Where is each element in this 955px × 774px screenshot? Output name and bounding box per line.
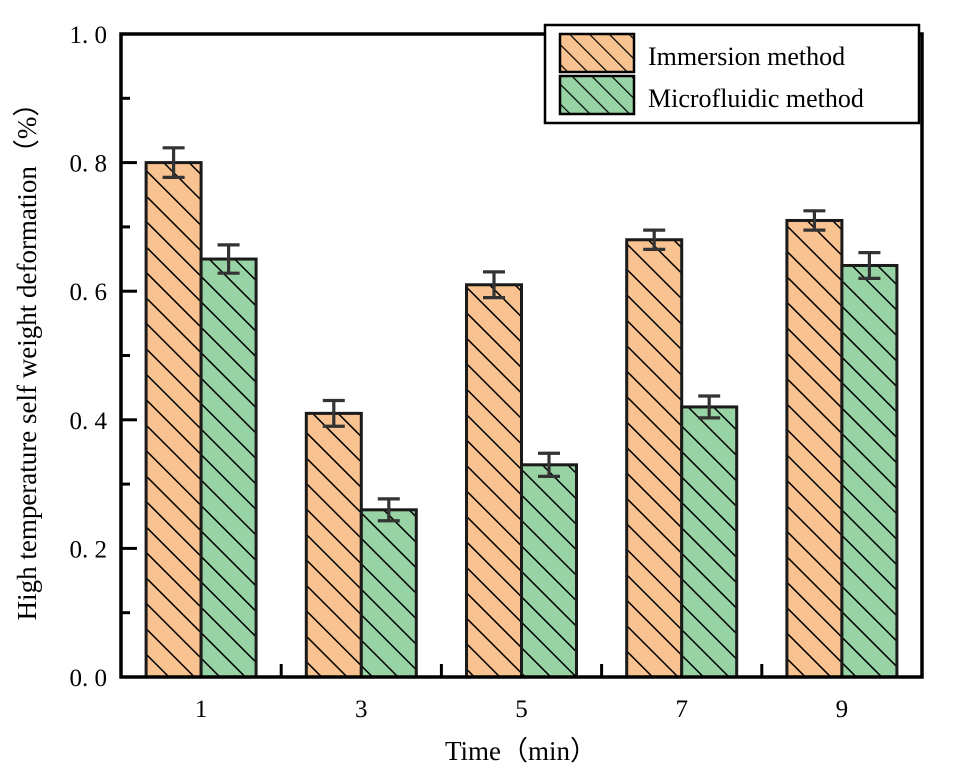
bar-immersion-method-7[interactable] bbox=[627, 240, 682, 677]
bar-immersion-method-5[interactable] bbox=[467, 285, 522, 677]
x-tick-label: 9 bbox=[836, 696, 849, 723]
y-tick-label: 0. 6 bbox=[70, 279, 108, 306]
legend-swatch-immersion bbox=[560, 34, 634, 72]
legend-label-immersion: Immersion method bbox=[648, 42, 845, 71]
y-tick-label: 0. 0 bbox=[70, 665, 108, 692]
legend-label-microfluidic: Microfluidic method bbox=[648, 84, 864, 113]
bar-immersion-method-1[interactable] bbox=[146, 163, 201, 677]
bar-chart: 0. 00. 20. 40. 60. 81. 0 13579 High temp… bbox=[0, 0, 955, 774]
y-tick-label: 0. 4 bbox=[70, 408, 108, 435]
bar-immersion-method-9[interactable] bbox=[787, 220, 842, 677]
y-tick-label: 0. 2 bbox=[70, 536, 108, 563]
chart-figure: 0. 00. 20. 40. 60. 81. 0 13579 High temp… bbox=[0, 0, 955, 774]
bar-microfluidic-method-3[interactable] bbox=[361, 510, 416, 677]
y-tick-label: 0. 8 bbox=[70, 151, 108, 178]
legend: Immersion method Microfluidic method bbox=[545, 25, 919, 123]
bar-microfluidic-method-1[interactable] bbox=[201, 259, 256, 677]
x-tick-label: 7 bbox=[675, 696, 688, 723]
bar-microfluidic-method-5[interactable] bbox=[522, 465, 577, 677]
bar-microfluidic-method-7[interactable] bbox=[682, 407, 737, 677]
bar-immersion-method-3[interactable] bbox=[306, 413, 361, 677]
x-axis-title: Time（min） bbox=[445, 736, 597, 766]
bar-microfluidic-method-9[interactable] bbox=[842, 265, 897, 677]
y-tick-label: 1. 0 bbox=[70, 22, 108, 49]
x-tick-label: 3 bbox=[355, 696, 368, 723]
legend-swatch-microfluidic bbox=[560, 76, 634, 114]
x-tick-label: 5 bbox=[515, 696, 528, 723]
y-axis-title: High temperature self weight deformation… bbox=[12, 90, 42, 621]
x-tick-label: 1 bbox=[195, 696, 208, 723]
